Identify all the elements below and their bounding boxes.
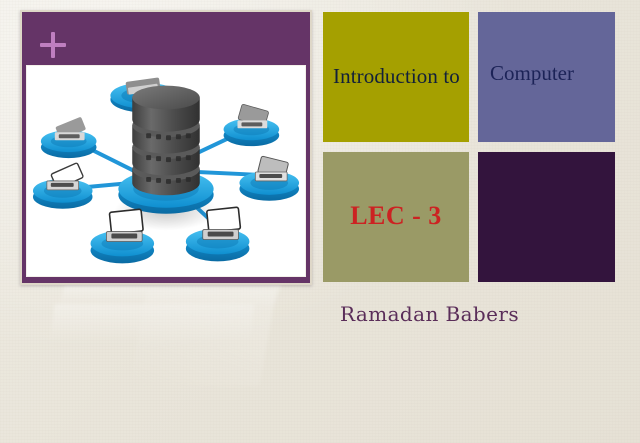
watermark-shape-c bbox=[130, 290, 277, 386]
background-watermark bbox=[48, 278, 298, 428]
photo-panel bbox=[20, 10, 312, 285]
network-diagram-illustration bbox=[27, 66, 305, 276]
title-block-grid: Introduction to Computer LEC - 3 bbox=[323, 12, 615, 282]
block-computer: Computer bbox=[478, 12, 615, 142]
plus-icon-vertical-bar bbox=[51, 32, 55, 58]
network-node-left-lower bbox=[33, 163, 93, 209]
block-introduction-text: Introduction to bbox=[333, 65, 461, 89]
illustration-frame bbox=[26, 65, 306, 277]
block-accent bbox=[478, 152, 615, 282]
network-node-left-upper bbox=[41, 117, 97, 158]
network-node-right-lower bbox=[239, 156, 299, 201]
plus-icon[interactable] bbox=[40, 32, 66, 58]
watermark-shape-a bbox=[58, 282, 281, 308]
author-name: Ramadan Babers bbox=[340, 302, 519, 326]
block-lecture-text: LEC - 3 bbox=[323, 201, 469, 230]
block-computer-text: Computer bbox=[490, 62, 615, 86]
block-lecture: LEC - 3 bbox=[323, 152, 469, 282]
block-introduction: Introduction to bbox=[323, 12, 469, 142]
watermark-shape-b bbox=[50, 304, 255, 344]
presentation-slide: Introduction to Computer LEC - 3 Ramadan… bbox=[0, 0, 640, 443]
network-node-right-upper bbox=[224, 104, 280, 146]
block-accent-text bbox=[478, 152, 615, 282]
